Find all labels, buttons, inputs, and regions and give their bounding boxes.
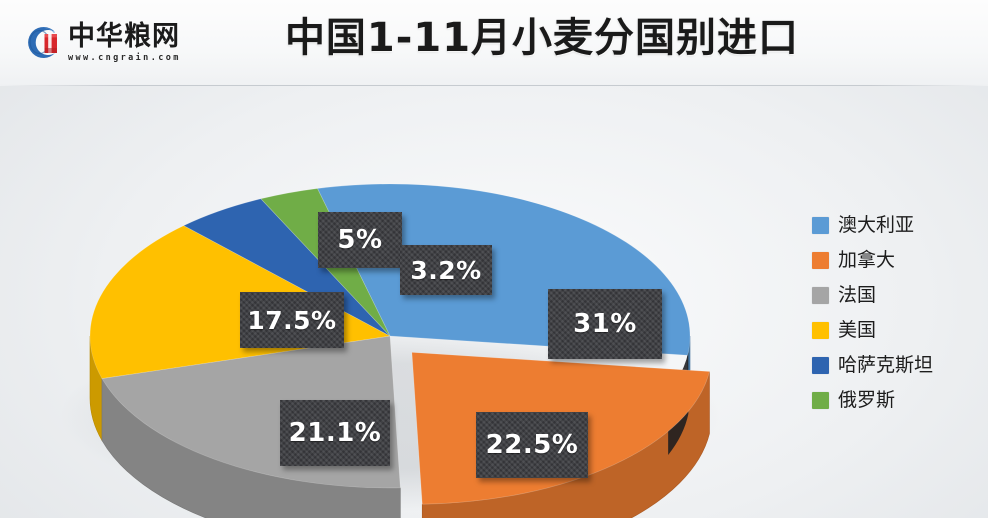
legend-swatch-icon bbox=[812, 217, 829, 234]
legend-item-label: 美国 bbox=[838, 318, 876, 342]
legend-item[interactable]: 加拿大 bbox=[812, 247, 976, 273]
legend-item[interactable]: 法国 bbox=[812, 282, 976, 308]
pie-chart-svg bbox=[0, 86, 790, 518]
legend-swatch-icon bbox=[812, 252, 829, 269]
legend-item[interactable]: 哈萨克斯坦 bbox=[812, 352, 976, 378]
data-label-australia: 31% bbox=[548, 289, 662, 359]
chart-screenshot: 中华粮网 www.cngrain.com 中国1-11月小麦分国别进口 5%3.… bbox=[0, 0, 988, 518]
header-bar: 中华粮网 www.cngrain.com 中国1-11月小麦分国别进口 bbox=[0, 0, 988, 86]
legend-item-label: 哈萨克斯坦 bbox=[838, 353, 933, 377]
legend-item[interactable]: 俄罗斯 bbox=[812, 387, 976, 413]
data-label-france: 21.1% bbox=[280, 400, 390, 466]
page-title: 中国1-11月小麦分国别进口 bbox=[0, 12, 988, 64]
chart-legend: 澳大利亚加拿大法国美国哈萨克斯坦俄罗斯 bbox=[812, 212, 976, 413]
pie-chart: 5%3.2%17.5%31%21.1%22.5% bbox=[0, 86, 790, 518]
legend-swatch-icon bbox=[812, 357, 829, 374]
legend-item[interactable]: 美国 bbox=[812, 317, 976, 343]
data-label-usa: 17.5% bbox=[240, 292, 344, 348]
legend-item-label: 澳大利亚 bbox=[838, 213, 914, 237]
legend-item-label: 俄罗斯 bbox=[838, 388, 895, 412]
legend-swatch-icon bbox=[812, 287, 829, 304]
legend-item-label: 加拿大 bbox=[838, 248, 895, 272]
legend-swatch-icon bbox=[812, 322, 829, 339]
data-label-canada: 22.5% bbox=[476, 412, 588, 478]
data-label-kazakhstan: 5% bbox=[318, 212, 402, 268]
legend-item-label: 法国 bbox=[838, 283, 876, 307]
legend-item[interactable]: 澳大利亚 bbox=[812, 212, 976, 238]
data-label-russia: 3.2% bbox=[400, 245, 492, 295]
legend-swatch-icon bbox=[812, 392, 829, 409]
